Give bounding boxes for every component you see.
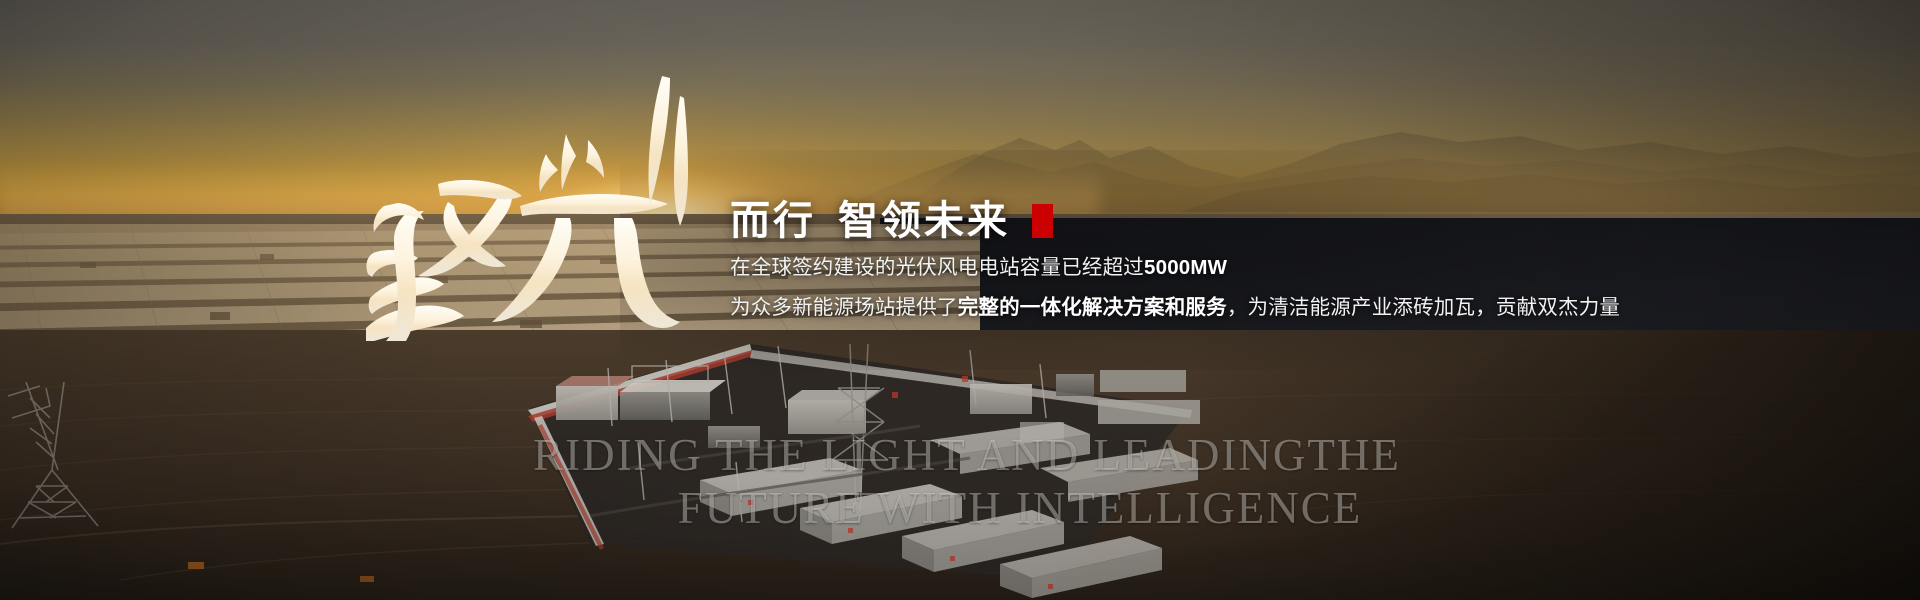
ground-right-shadow <box>1180 330 1920 600</box>
headline-part-1: 而行 <box>730 198 816 244</box>
subtitle-capacity-value: 5000MW <box>1144 256 1227 279</box>
battery-storage-facility <box>500 330 1220 600</box>
red-accent-block <box>1032 204 1053 238</box>
headline: 而行 智领未来 <box>730 198 1690 244</box>
headline-part-2: 智领未来 <box>838 198 1010 244</box>
subtitle-solution-highlight: 完整的一体化解决方案和服务 <box>958 296 1227 319</box>
subtitle-line-2-prefix: 为众多新能源场站提供了 <box>730 296 958 319</box>
hero-copy: 而行 智领未来 在全球签约建设的光伏风电电站容量已经超过5000MW 为众多新能… <box>730 198 1690 324</box>
subtitle-line-2: 为众多新能源场站提供了完整的一体化解决方案和服务，为清洁能源产业添砖加瓦，贡献双… <box>730 293 1690 324</box>
transmission-tower-icon <box>6 378 126 548</box>
subtitle-line-2-suffix: ，为清洁能源产业添砖加瓦，贡献双杰力量 <box>1227 296 1620 319</box>
hero-banner: 而行 智领未来 在全球签约建设的光伏风电电站容量已经超过5000MW 为众多新能… <box>0 0 1920 600</box>
subtitle-line-1: 在全球签约建设的光伏风电电站容量已经超过5000MW <box>730 253 1690 284</box>
subtitle-line-1-text: 在全球签约建设的光伏风电电站容量已经超过 <box>730 256 1144 279</box>
